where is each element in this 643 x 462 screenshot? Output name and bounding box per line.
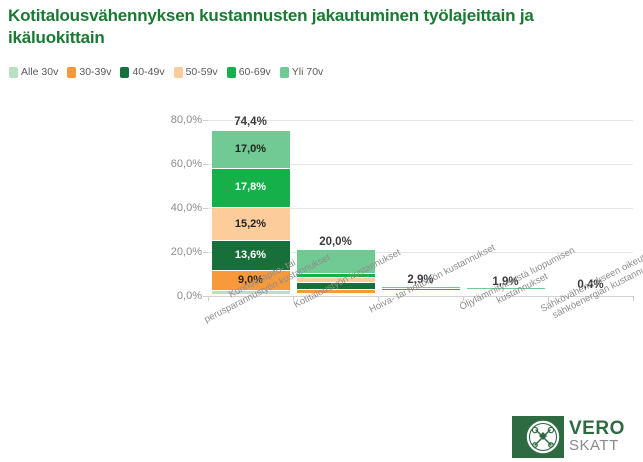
page-title: Kotitalousvähennyksen kustannusten jakau… (8, 5, 623, 49)
chart-legend: Alle 30v30-39v40-49v50-59v60-69vYli 70v (9, 66, 323, 78)
legend-item-yli70v[interactable]: Yli 70v (280, 66, 324, 78)
bar-segment[interactable]: 15,2% (212, 208, 290, 241)
legend-item-label: 50-59v (186, 66, 218, 78)
legend-swatch-icon (9, 67, 18, 78)
bar-segment-value-label: 17,0% (235, 144, 266, 155)
bar-segment[interactable]: 17,8% (212, 169, 290, 208)
bar-segment-value-label: 17,8% (235, 182, 266, 193)
bar-total-label: 20,0% (296, 236, 376, 248)
legend-item-v50_59[interactable]: 50-59v (174, 66, 218, 78)
legend-item-label: Alle 30v (21, 66, 58, 78)
bar-segment[interactable]: 17,0% (212, 131, 290, 168)
y-tick-mark (203, 164, 208, 165)
seal-emblem-icon (525, 419, 561, 455)
y-axis-tick-label: 80,0% (150, 114, 202, 126)
legend-item-alle30v[interactable]: Alle 30v (9, 66, 58, 78)
logo-wordmark: VERO SKATT (569, 416, 625, 458)
y-axis-tick-label: 40,0% (150, 202, 202, 214)
y-tick-mark (203, 120, 208, 121)
logo-vero-text: VERO (569, 420, 625, 438)
bar-total-label: 74,4% (211, 116, 291, 128)
legend-swatch-icon (227, 67, 236, 78)
x-axis-labels: Kunnossapito- tai perusparannustyön kust… (0, 300, 643, 410)
logo-skatt-text: SKATT (569, 438, 625, 454)
legend-swatch-icon (280, 67, 289, 78)
legend-item-v60_69[interactable]: 60-69v (227, 66, 271, 78)
legend-swatch-icon (67, 67, 76, 78)
legend-item-label: 40-49v (132, 66, 164, 78)
y-axis: 0,0%20,0%40,0%60,0%80,0% (150, 110, 202, 310)
bar-segment-value-label: 13,6% (235, 250, 266, 261)
legend-item-v30_39[interactable]: 30-39v (67, 66, 111, 78)
y-axis-tick-label: 20,0% (150, 246, 202, 258)
legend-swatch-icon (174, 67, 183, 78)
y-tick-mark (203, 208, 208, 209)
legend-swatch-icon (120, 67, 129, 78)
legend-item-label: 30-39v (79, 66, 111, 78)
y-axis-tick-label: 60,0% (150, 158, 202, 170)
bar-segment-value-label: 15,2% (235, 219, 266, 230)
legend-item-label: 60-69v (239, 66, 271, 78)
legend-item-v40_49[interactable]: 40-49v (120, 66, 164, 78)
y-tick-mark (203, 252, 208, 253)
vero-seal-icon (512, 416, 564, 458)
vero-skatt-logo: VERO SKATT (512, 416, 634, 458)
legend-item-label: Yli 70v (292, 66, 324, 78)
